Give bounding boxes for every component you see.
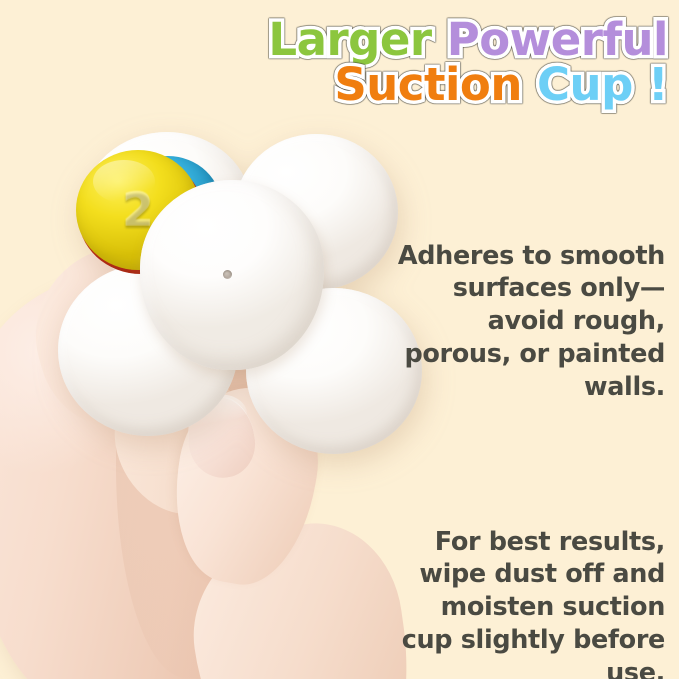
feature-text-adheres: Adheres to smooth surfaces only—avoid ro… <box>397 240 665 404</box>
headline-word-cup: Cup ! <box>537 63 668 106</box>
pinhole-vent-icon <box>223 270 232 279</box>
headline-word-powerful: Powerful <box>447 18 668 61</box>
headline-line-1: Larger Powerful <box>108 18 668 61</box>
headline: Larger Powerful Suction Cup ! <box>108 18 668 106</box>
headline-word-larger: Larger <box>268 18 431 61</box>
product-marketing-image: 3 4 1 2 Larger Powerful Suction Cup ! <box>0 0 679 679</box>
feature-text-best-results: For best results, wipe dust off and mois… <box>397 526 665 679</box>
product-photo: 3 4 1 2 <box>0 96 440 679</box>
fidget-spinner: 3 4 1 2 <box>56 128 398 460</box>
spinner-center-hub <box>140 180 324 370</box>
